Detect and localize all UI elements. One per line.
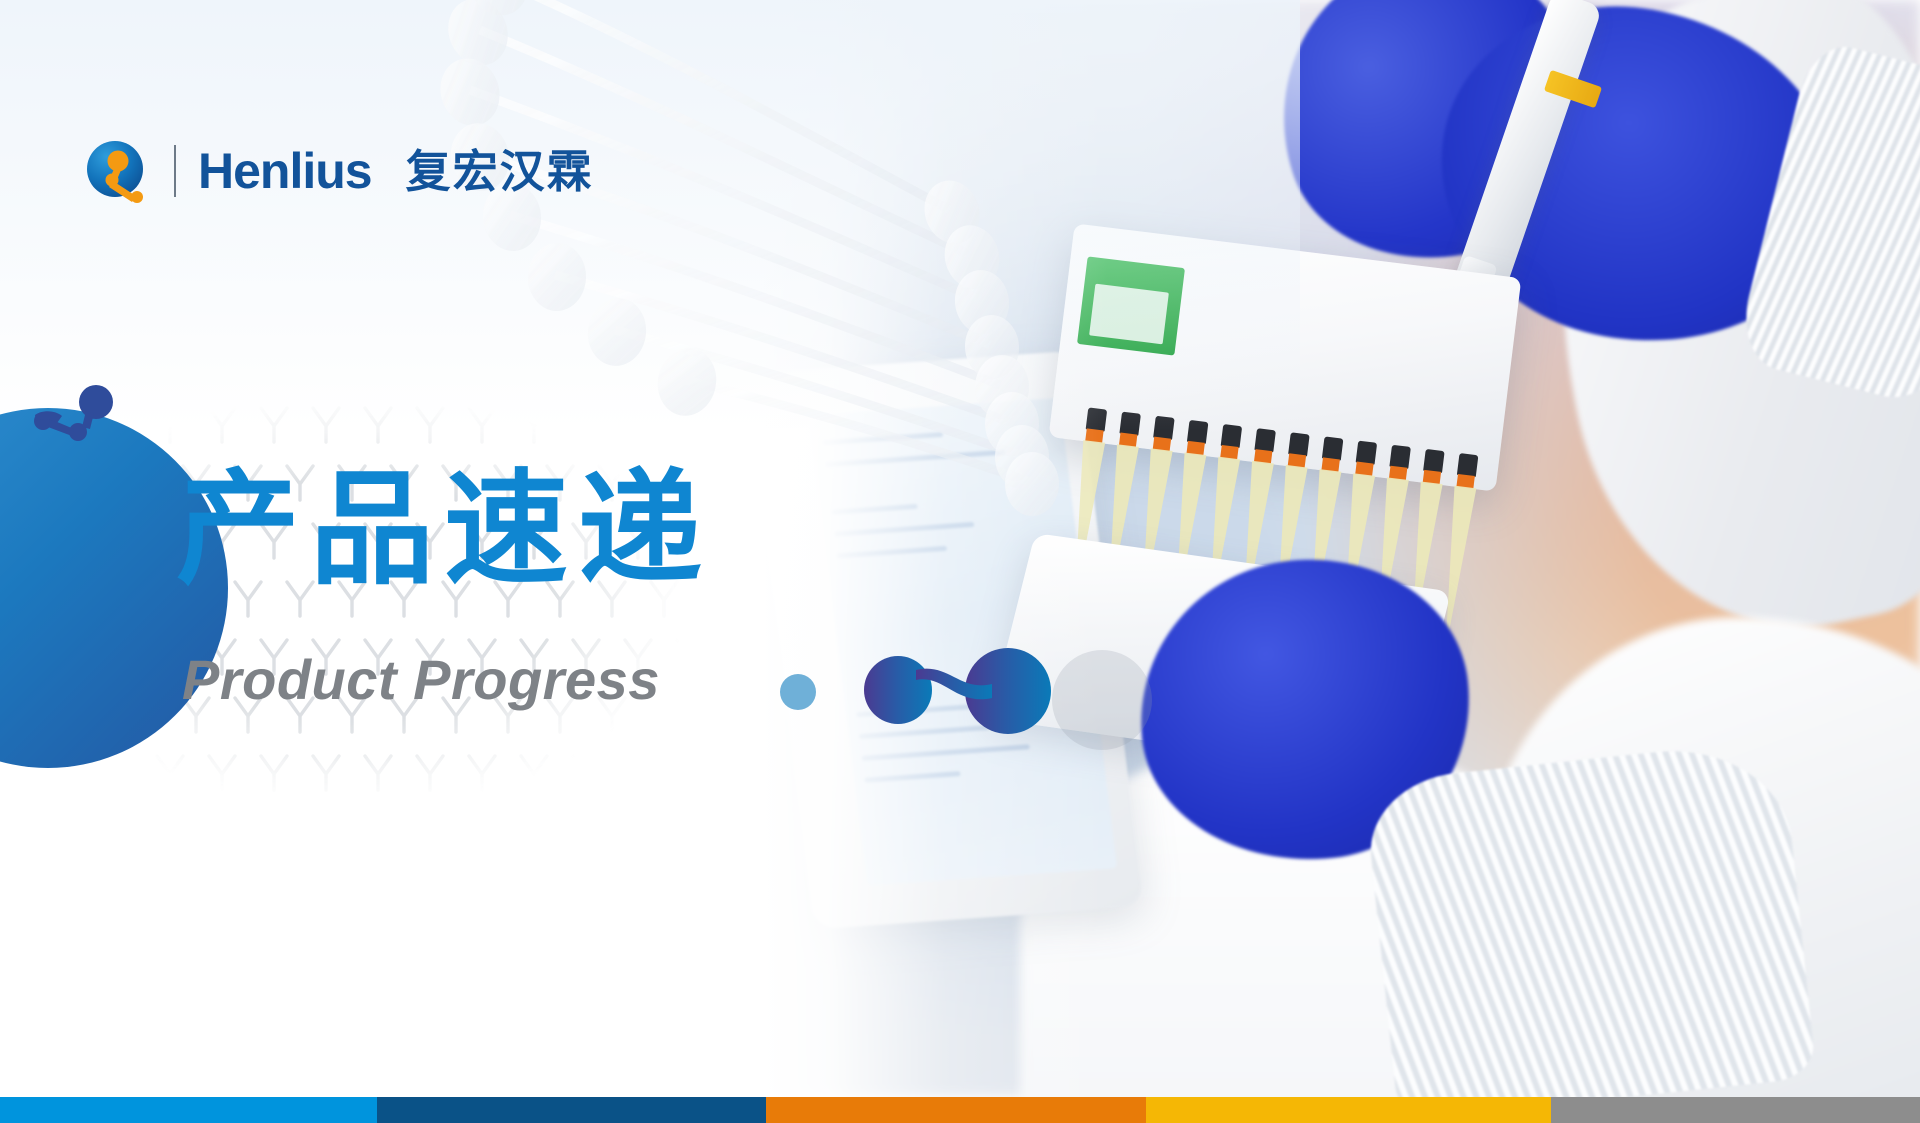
brand-logo[interactable]: Henlius 复宏汉霖 [86, 140, 594, 202]
molecule-dumbbell-icon [860, 648, 1060, 734]
bottom-bar-segment-yellow [1146, 1097, 1551, 1123]
accent-dot [780, 674, 816, 710]
bottom-bar-segment-gray [1551, 1097, 1920, 1123]
brand-name-en: Henlius [198, 146, 372, 196]
bottom-bar-segment-dark-blue [377, 1097, 766, 1123]
page-title-cn: 产品速递 [176, 468, 712, 592]
bottom-color-bar [0, 1097, 1920, 1123]
molecule-node-icon [30, 385, 120, 455]
brand-name-cn: 复宏汉霖 [406, 149, 594, 194]
ghost-circle [1052, 650, 1152, 750]
top-gradient-wash [0, 0, 1300, 430]
presentation-slide: Henlius 复宏汉霖 产品速递 Product Progress [0, 0, 1920, 1123]
bottom-bar-segment-light-blue [0, 1097, 377, 1123]
bottom-bar-segment-orange [766, 1097, 1146, 1123]
page-title-en: Product Progress [182, 652, 660, 708]
logo-divider [174, 145, 176, 197]
henlius-molecule-logo-icon [86, 140, 148, 202]
